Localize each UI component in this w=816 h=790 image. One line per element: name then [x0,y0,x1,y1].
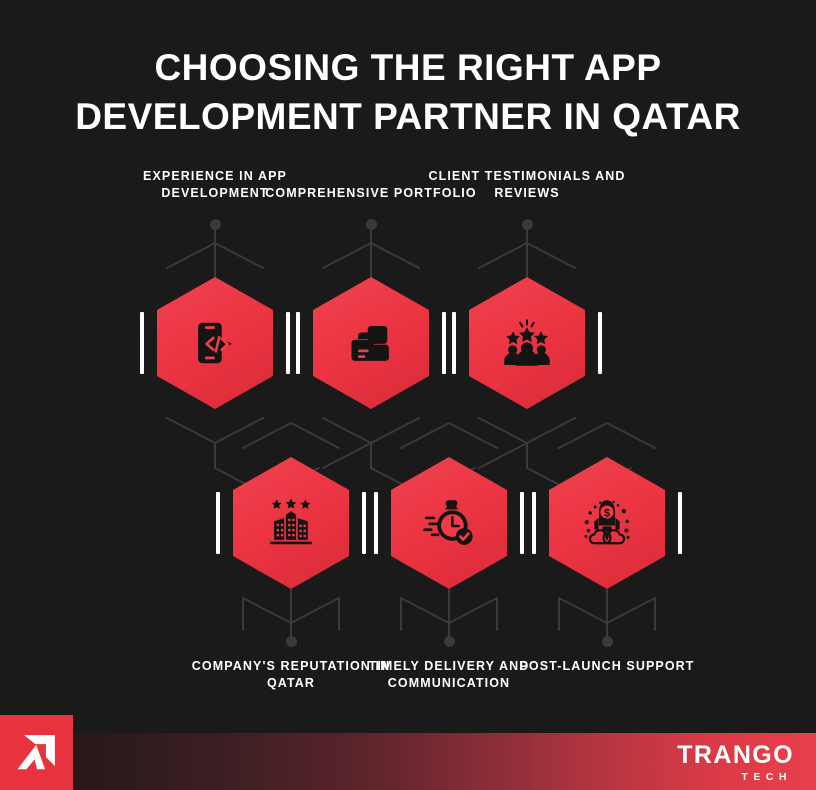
svg-text:$: $ [604,507,610,519]
brand-sub: TECH [677,772,794,783]
connector-stem [448,589,450,641]
accent-bar-left [452,312,456,374]
infographic-canvas: CHOOSING THE RIGHT APP DEVELOPMENT PARTN… [0,0,816,790]
portfolio-folder-icon [342,314,400,372]
smartphone-code-icon [186,314,244,372]
connector-dot [602,636,613,647]
accent-bar-left [216,492,220,554]
connector-stem [370,225,372,277]
accent-bar-left [140,312,144,374]
accent-bar-right [362,492,366,554]
node-layer: EXPERIENCE IN APP DEVELOPMENT COMP [0,0,816,790]
trango-arrow-logo[interactable] [0,715,73,790]
connector-stem [290,589,292,641]
accent-bar-right [678,492,682,554]
node-label: POST-LAUNCH SUPPORT [492,658,722,675]
accent-bar-left [296,312,300,374]
accent-bar-left [374,492,378,554]
brand-name: TRANGO [677,743,794,768]
accent-bar-right [598,312,602,374]
arrow-logo-icon [11,727,63,779]
accent-bar-right [442,312,446,374]
accent-bar-right [286,312,290,374]
connector-stem [606,589,608,641]
connector-stem [214,225,216,277]
rocket-dollar-icon: $ [578,494,636,552]
connector-stem [526,225,528,277]
brand-lockup: TRANGO TECH [677,743,794,783]
node-label: CLIENT TESTIMONIALS AND REVIEWS [412,168,642,201]
connector-dot [286,636,297,647]
accent-bar-right [520,492,524,554]
buildings-stars-icon [262,494,320,552]
people-stars-icon [498,314,556,372]
connector-dot [444,636,455,647]
accent-bar-left [532,492,536,554]
stopwatch-check-icon [420,494,478,552]
